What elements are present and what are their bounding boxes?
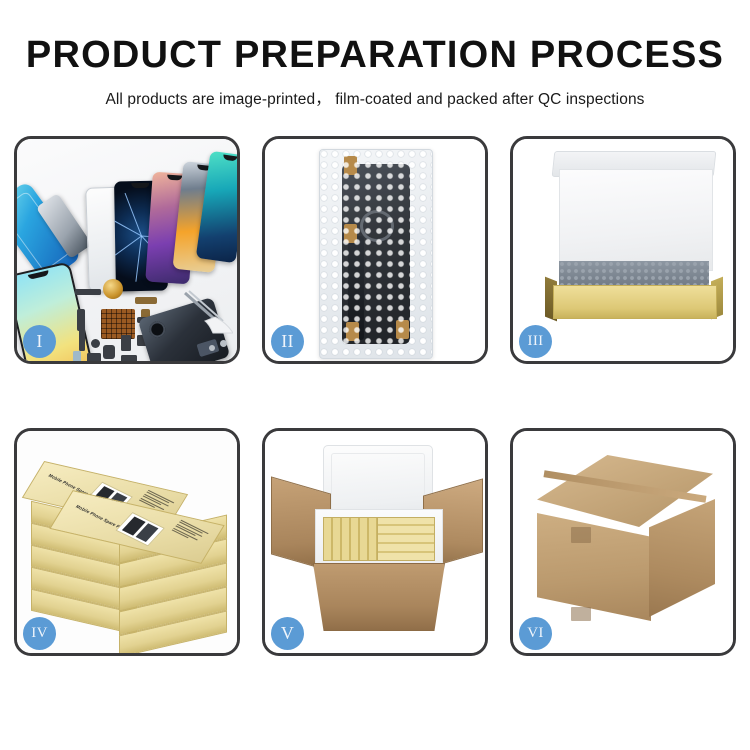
step-badge-2: II xyxy=(271,325,304,358)
small-part xyxy=(103,345,115,359)
tape-tab xyxy=(396,320,409,339)
flex-cable xyxy=(77,309,85,331)
tape-tab xyxy=(344,224,357,243)
step-badge-3: III xyxy=(519,325,552,358)
page-title: PRODUCT PREPARATION PROCESS xyxy=(0,36,750,74)
screen-crack xyxy=(125,193,142,236)
process-step-panel-2: II xyxy=(262,136,488,364)
tape-strip xyxy=(571,527,591,543)
carton-left-face xyxy=(537,513,651,621)
step-badge-1: I xyxy=(23,325,56,358)
tape-tab xyxy=(346,322,359,341)
foam-liner xyxy=(559,169,713,271)
step-3-image xyxy=(513,139,733,361)
speaker-component xyxy=(103,279,123,299)
phone-notch xyxy=(223,155,237,162)
carton-front-panel xyxy=(313,563,445,631)
tape-strip xyxy=(571,607,591,621)
screen-crack xyxy=(135,236,142,282)
step-2-image xyxy=(265,139,485,361)
small-part xyxy=(121,355,137,361)
process-step-panel-6: VI xyxy=(510,428,736,656)
box-spec-lines xyxy=(171,520,209,545)
step-badge-6: VI xyxy=(519,617,552,650)
small-part xyxy=(121,335,131,351)
carton-right-face xyxy=(649,499,715,617)
step-4-image: Mobile Phone Spare Parts Mobile Phone Sp… xyxy=(17,431,237,653)
screw xyxy=(209,345,215,351)
phone-notch xyxy=(131,183,149,188)
tweezers-icon xyxy=(179,289,233,335)
page-subtitle: All products are image-printed， film-coa… xyxy=(0,87,750,109)
process-step-panel-1: I xyxy=(14,136,240,364)
step-6-image xyxy=(513,431,733,653)
process-step-grid: I II III xyxy=(14,136,736,656)
process-step-panel-3: III xyxy=(510,136,736,364)
phone-notch xyxy=(28,270,50,280)
box-stack: Mobile Phone Spare Parts Mobile Phone Sp… xyxy=(31,457,231,637)
process-step-panel-4: Mobile Phone Spare Parts Mobile Phone Sp… xyxy=(14,428,240,656)
small-part xyxy=(91,339,100,348)
small-part xyxy=(87,353,101,361)
step-5-image xyxy=(265,431,485,653)
screw xyxy=(220,340,227,347)
tape-tab xyxy=(344,156,357,175)
phone-notch xyxy=(167,175,182,181)
box-front-kraft xyxy=(553,285,717,319)
bubble-wrap-bag xyxy=(319,149,433,359)
small-part xyxy=(75,289,101,295)
step-1-image xyxy=(17,139,237,361)
step-badge-5: V xyxy=(271,617,304,650)
page-header: PRODUCT PREPARATION PROCESS All products… xyxy=(0,0,750,109)
step-badge-4: IV xyxy=(23,617,56,650)
packed-boxes-row xyxy=(377,517,435,561)
small-part xyxy=(73,351,81,361)
process-step-panel-5: V xyxy=(262,428,488,656)
flex-cable xyxy=(135,297,157,304)
box-window xyxy=(115,512,165,547)
